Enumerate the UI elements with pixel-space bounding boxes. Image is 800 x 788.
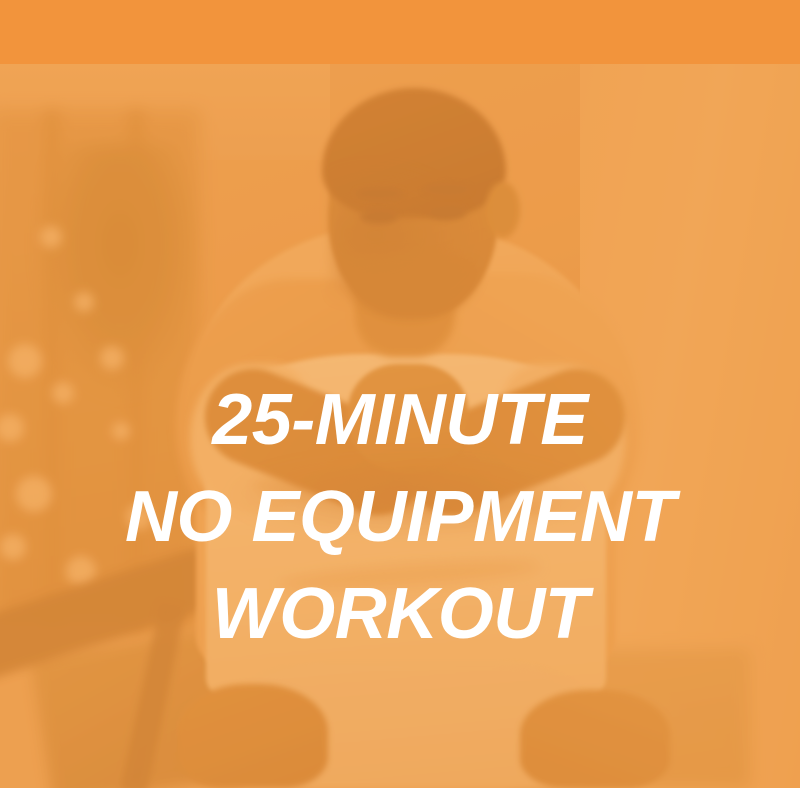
top-accent-band <box>0 0 800 64</box>
orange-overlay-layer <box>0 64 800 788</box>
hero-photo <box>0 64 800 788</box>
workout-promo-card: 25-MINUTE NO EQUIPMENT WORKOUT <box>0 0 800 788</box>
